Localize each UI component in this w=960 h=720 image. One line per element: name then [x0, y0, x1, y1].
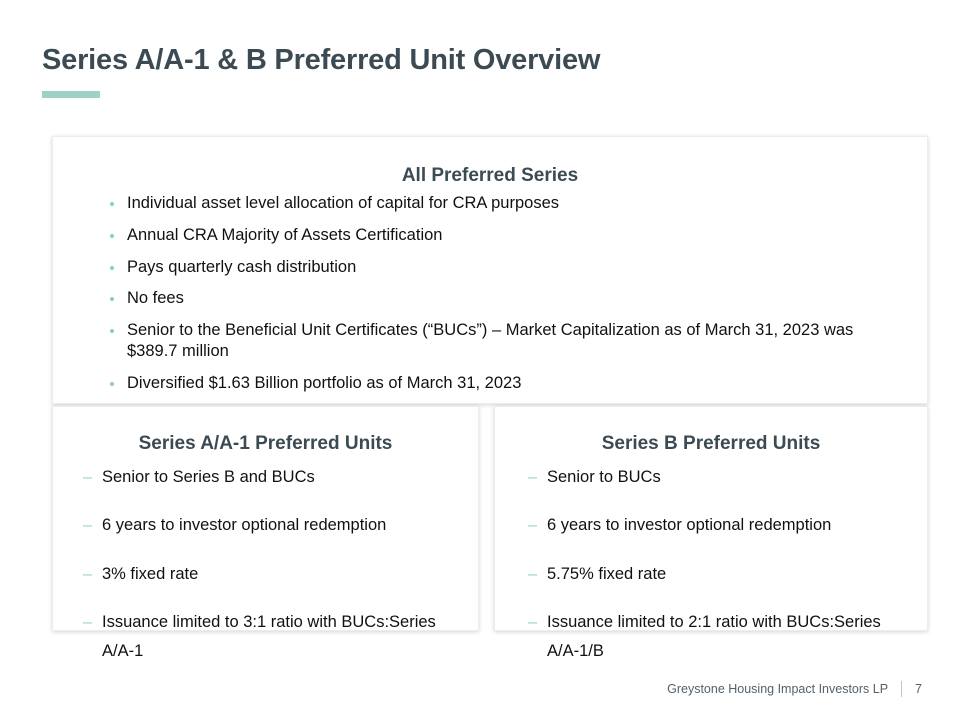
all-preferred-series-list: Individual asset level allocation of cap… [53, 193, 927, 393]
page-title: Series A/A-1 & B Preferred Unit Overview [42, 44, 600, 77]
list-item: Issuance limited to 2:1 ratio with BUCs:… [528, 608, 911, 667]
list-item: Senior to Series B and BUCs [83, 463, 462, 492]
series-b-list: Senior to BUCs 6 years to investor optio… [495, 463, 927, 667]
footer-divider [901, 681, 902, 697]
list-item: 5.75% fixed rate [528, 560, 911, 589]
list-item: 6 years to investor optional redemption [528, 511, 911, 540]
list-item: Individual asset level allocation of cap… [109, 193, 881, 214]
page-number: 7 [915, 682, 922, 696]
series-a-list: Senior to Series B and BUCs 6 years to i… [53, 463, 478, 667]
list-item: Diversified $1.63 Billion portfolio as o… [109, 373, 881, 394]
title-accent-rule [42, 91, 100, 98]
list-item: Senior to BUCs [528, 463, 911, 492]
all-preferred-series-panel: All Preferred Series Individual asset le… [52, 136, 928, 404]
all-preferred-series-heading: All Preferred Series [53, 137, 927, 187]
series-a-heading: Series A/A-1 Preferred Units [53, 407, 478, 455]
list-item: Annual CRA Majority of Assets Certificat… [109, 225, 881, 246]
list-item: Senior to the Beneficial Unit Certificat… [109, 320, 881, 362]
series-a-preferred-units-panel: Series A/A-1 Preferred Units Senior to S… [52, 406, 479, 631]
series-b-heading: Series B Preferred Units [495, 407, 927, 455]
list-item: 6 years to investor optional redemption [83, 511, 462, 540]
series-b-preferred-units-panel: Series B Preferred Units Senior to BUCs … [494, 406, 928, 631]
list-item: No fees [109, 288, 881, 309]
footer-company-name: Greystone Housing Impact Investors LP [667, 682, 888, 696]
list-item: Issuance limited to 3:1 ratio with BUCs:… [83, 608, 462, 667]
list-item: 3% fixed rate [83, 560, 462, 589]
slide-footer: Greystone Housing Impact Investors LP 7 [667, 681, 922, 697]
list-item: Pays quarterly cash distribution [109, 257, 881, 278]
